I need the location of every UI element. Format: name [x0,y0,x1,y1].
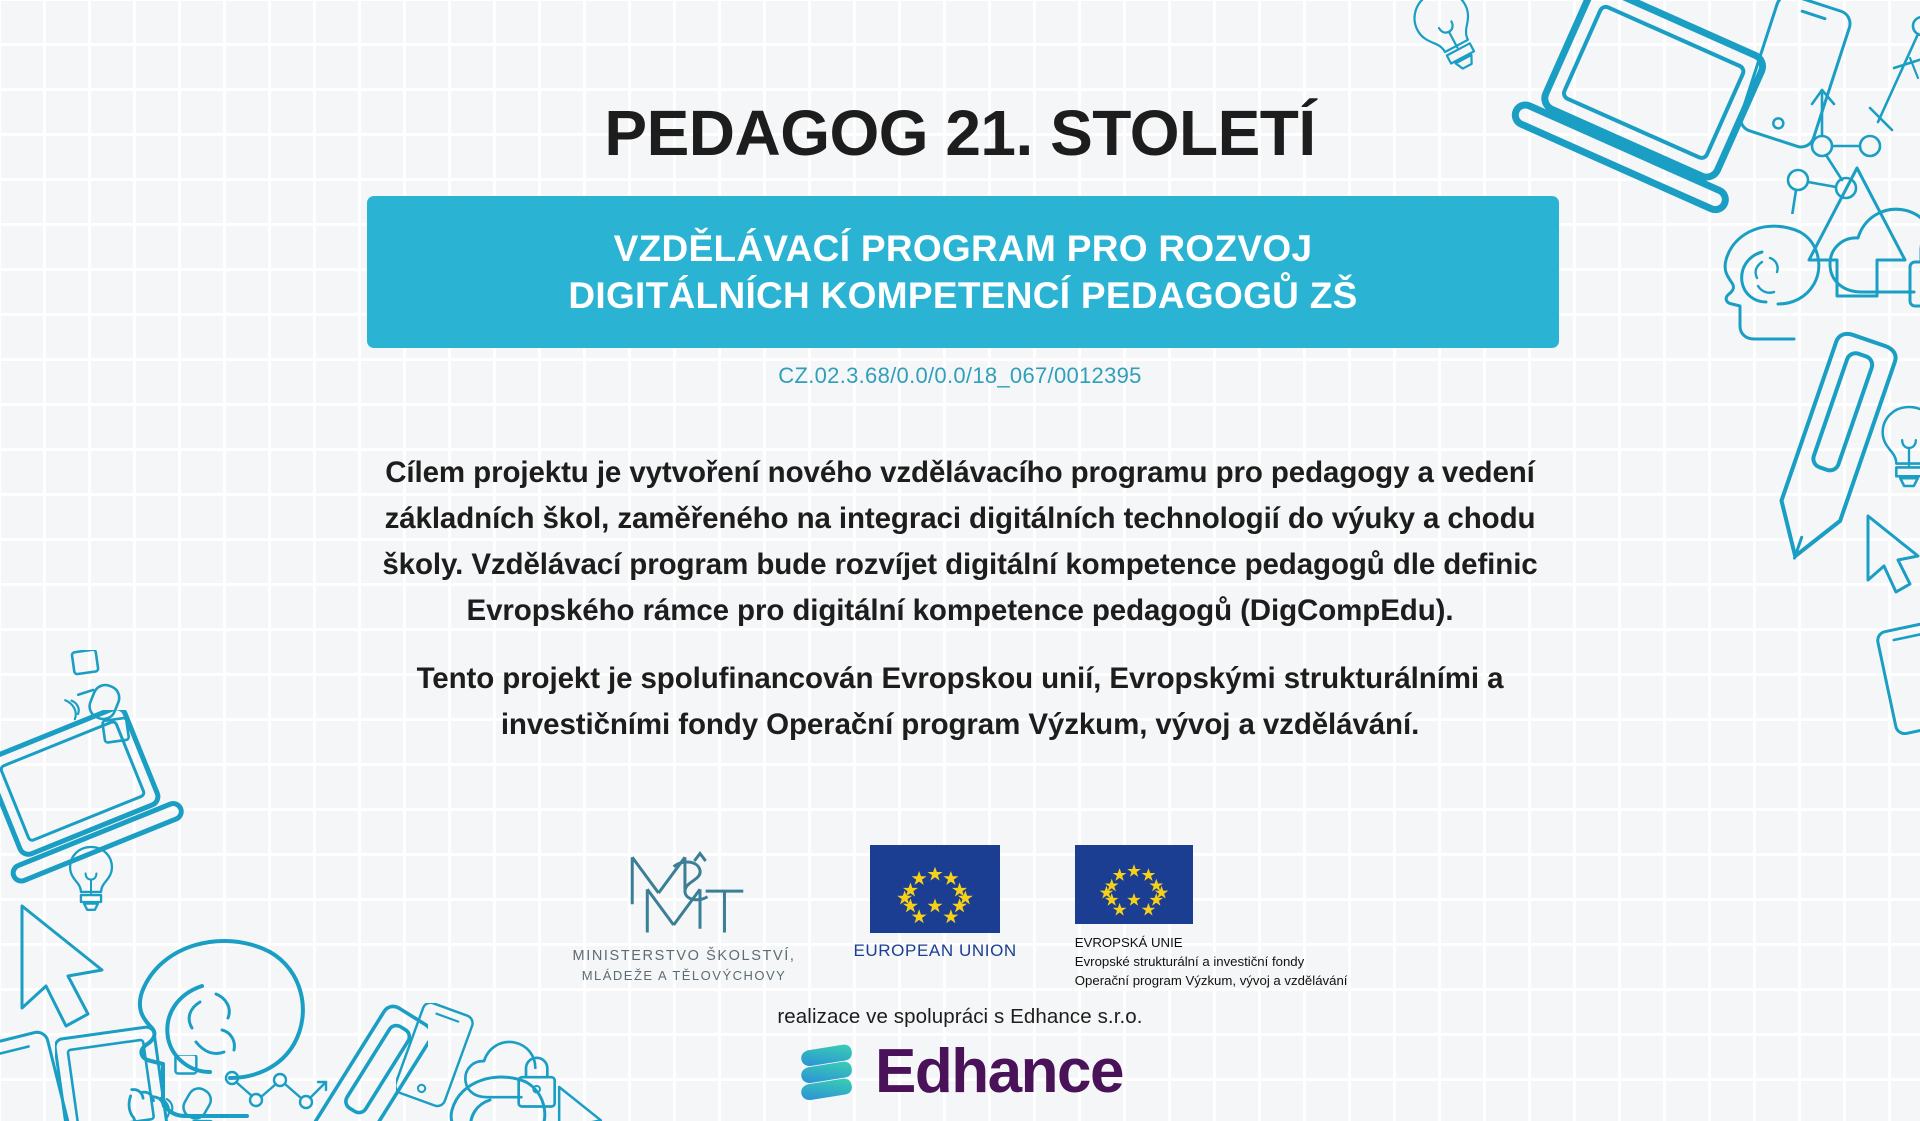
msmt-logo: MINISTERSTVO ŠKOLSTVÍ, MLÁDEŽE A TĚLOVÝC… [573,845,796,986]
realizace-text: realizace ve spolupráci s Edhance s.r.o. [0,1005,1920,1029]
eu-czech-line-2: Evropské strukturální a investiční fondy [1075,952,1348,971]
eu-czech-caption: EVROPSKÁ UNIE Evropské strukturální a in… [1075,933,1348,990]
subtitle-line-1: VZDĚLÁVACÍ PROGRAM PRO ROZVOJ [614,225,1313,272]
msmt-caption: MINISTERSTVO ŠKOLSTVÍ, MLÁDEŽE A TĚLOVÝC… [573,946,796,986]
eu-flag-icon [870,845,1000,933]
body-paragraph-1: Cílem projektu je vytvoření nového vzděl… [360,450,1560,634]
project-id: CZ.02.3.68/0.0/0.0/18_067/0012395 [0,363,1920,389]
msmt-caption-line-1: MINISTERSTVO ŠKOLSTVÍ, [573,946,796,967]
footer: realizace ve spolupráci s Edhance s.r.o.… [0,1005,1920,1103]
eu-czech-logo: EVROPSKÁ UNIE Evropské strukturální a in… [1075,845,1348,990]
body-text: Cílem projektu je vytvoření nového vzděl… [360,450,1560,748]
msmt-caption-line-2: MLÁDEŽE A TĚLOVÝCHOVY [573,967,796,986]
edhance-wordmark: Edhance [875,1041,1123,1103]
subtitle-banner: VZDĚLÁVACÍ PROGRAM PRO ROZVOJ DIGITÁLNÍC… [367,196,1559,348]
funding-logos: MINISTERSTVO ŠKOLSTVÍ, MLÁDEŽE A TĚLOVÝC… [0,845,1920,985]
eu-english-label: EUROPEAN UNION [853,941,1016,961]
subtitle-line-2: DIGITÁLNÍCH KOMPETENCÍ PEDAGOGŮ ZŠ [568,272,1357,319]
eu-english-logo: EUROPEAN UNION [853,845,1016,961]
msmt-monogram-icon [604,845,764,941]
edhance-logo-icon [797,1043,861,1101]
page-title: PEDAGOG 21. STOLETÍ [0,96,1920,170]
eu-czech-line-3: Operační program Výzkum, vývoj a vzděláv… [1075,971,1348,990]
eu-flag-icon [1075,845,1193,924]
edhance-brand: Edhance [0,1041,1920,1103]
body-paragraph-2: Tento projekt je spolufinancován Evropsk… [360,656,1560,748]
poster-root: PEDAGOG 21. STOLETÍ VZDĚLÁVACÍ PROGRAM P… [0,0,1920,1121]
eu-czech-line-1: EVROPSKÁ UNIE [1075,933,1348,952]
